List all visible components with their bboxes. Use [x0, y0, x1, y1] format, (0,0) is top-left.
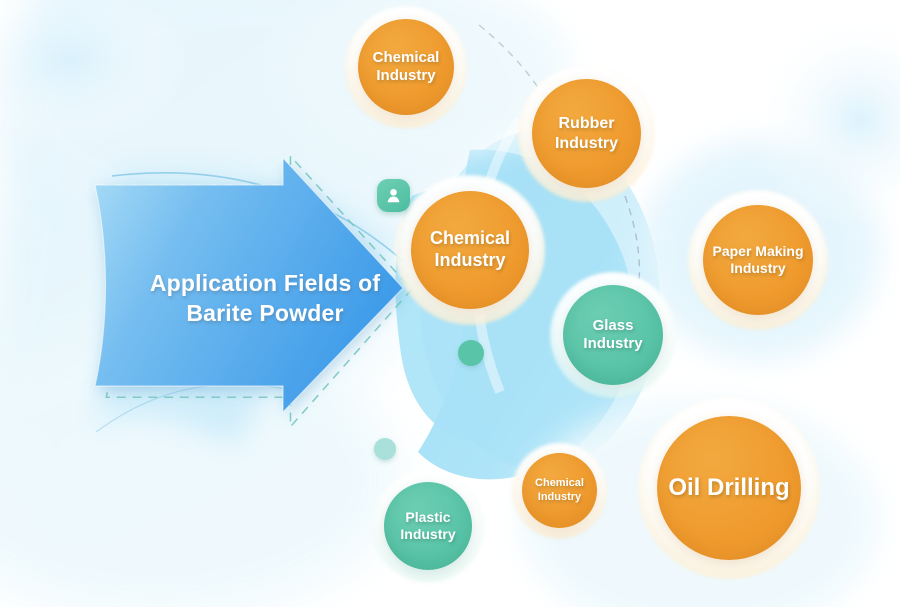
bubble-label: PlasticIndustry — [394, 509, 461, 543]
bubble-label-line-1: Plastic — [400, 509, 455, 526]
bubble-label-line-2: Industry — [583, 335, 642, 353]
bubble-label-line-1: Oil Drilling — [668, 473, 789, 502]
bubble-label: GlassIndustry — [577, 317, 648, 354]
bubble-label: ChemicalIndustry — [367, 49, 446, 86]
bubble-label-line-2: Industry — [373, 67, 440, 85]
bubble-label-line-1: Chemical — [430, 228, 510, 250]
bubble-plastic-industry[interactable]: PlasticIndustry — [372, 470, 484, 582]
application-fields-arrow: Application Fields of Barite Powder — [55, 150, 425, 460]
bubble-chemical-industry-main[interactable]: ChemicalIndustry — [395, 175, 545, 325]
bubble-label: RubberIndustry — [549, 114, 624, 153]
bubble-label-line-2: Industry — [535, 491, 584, 504]
bubble-label-line-1: Glass — [583, 317, 642, 335]
accent-dot-small — [374, 438, 396, 460]
bubble-label: Paper MakingIndustry — [706, 243, 809, 277]
bubble-label-line-1: Chemical — [373, 49, 440, 67]
bubble-glass-industry[interactable]: GlassIndustry — [550, 272, 676, 398]
bubble-label: Oil Drilling — [662, 473, 795, 502]
bubble-paper-making-industry[interactable]: Paper MakingIndustry — [688, 190, 828, 330]
barite-powder-application-infographic: Application Fields of Barite Powder Chem… — [0, 0, 900, 607]
bubble-label: ChemicalIndustry — [529, 477, 590, 504]
bubble-label-line-1: Chemical — [535, 477, 584, 490]
bubble-oil-drilling[interactable]: Oil Drilling — [638, 397, 820, 579]
accent-dot-large — [458, 340, 484, 366]
person-icon — [384, 186, 403, 205]
bubble-chemical-industry-top[interactable]: ChemicalIndustry — [345, 6, 467, 128]
arrow-shape — [95, 158, 403, 412]
user-badge-icon[interactable] — [377, 179, 410, 212]
bubble-label: ChemicalIndustry — [424, 228, 516, 272]
bubble-chemical-industry-small[interactable]: ChemicalIndustry — [512, 443, 607, 538]
bubble-label-line-2: Industry — [430, 250, 510, 272]
bubble-rubber-industry[interactable]: RubberIndustry — [518, 65, 655, 202]
bubble-label-line-2: Industry — [712, 260, 803, 277]
bubble-label-line-2: Industry — [555, 134, 618, 154]
bubble-label-line-2: Industry — [400, 526, 455, 543]
bubble-label-line-1: Paper Making — [712, 243, 803, 260]
bubble-label-line-1: Rubber — [555, 114, 618, 134]
